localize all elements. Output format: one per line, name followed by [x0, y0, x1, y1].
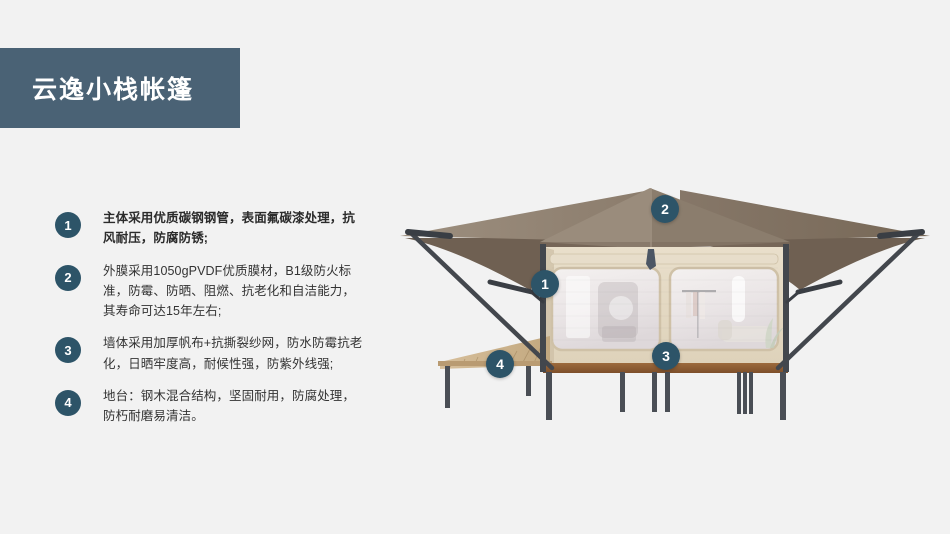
feature-list: 1 主体采用优质碳钢钢管，表面氟碳漆处理，抗风耐压，防腐防锈; 2 外膜采用10…	[55, 208, 365, 438]
feature-badge-1: 1	[55, 212, 81, 238]
window-left	[552, 268, 660, 350]
list-item: 1 主体采用优质碳钢钢管，表面氟碳漆处理，抗风耐压，防腐防锈;	[55, 208, 365, 249]
callout-badge-1[interactable]: 1	[531, 270, 559, 298]
canopy-tip-left	[408, 232, 450, 236]
corner-post-right	[783, 244, 789, 372]
feature-badge-2: 2	[55, 265, 81, 291]
feature-text-2: 外膜采用1050gPVDF优质膜材，B1级防火标准，防霉、防晒、阻燃、抗老化和自…	[103, 261, 365, 322]
list-item: 4 地台：钢木混合结构，坚固耐用，防腐处理，防朽耐磨易清洁。	[55, 386, 365, 427]
callout-badge-3[interactable]: 3	[652, 342, 680, 370]
corner-post-left	[540, 244, 546, 372]
feature-badge-3: 3	[55, 337, 81, 363]
feature-text-4: 地台：钢木混合结构，坚固耐用，防腐处理，防朽耐磨易清洁。	[103, 386, 365, 427]
window-right	[670, 268, 784, 350]
list-item: 3 墙体采用加厚帆布+抗撕裂纱网，防水防霉抗老化，日晒牢度高，耐候性强，防紫外线…	[55, 333, 365, 374]
page-title: 云逸小栈帐篷	[32, 70, 194, 106]
callout-badge-4[interactable]: 4	[486, 350, 514, 378]
window-valance	[550, 254, 778, 264]
list-item: 2 外膜采用1050gPVDF优质膜材，B1级防火标准，防霉、防晒、阻燃、抗老化…	[55, 261, 365, 322]
callout-badge-2[interactable]: 2	[651, 195, 679, 223]
canopy-tip-right	[880, 232, 922, 236]
slide-root: 云逸小栈帐篷 1 主体采用优质碳钢钢管，表面氟碳漆处理，抗风耐压，防腐防锈; 2…	[0, 0, 950, 534]
title-banner: 云逸小栈帐篷	[0, 48, 240, 128]
feature-text-1: 主体采用优质碳钢钢管，表面氟碳漆处理，抗风耐压，防腐防锈;	[103, 208, 365, 249]
feature-text-3: 墙体采用加厚帆布+抗撕裂纱网，防水防霉抗老化，日晒牢度高，耐候性强，防紫外线强;	[103, 333, 365, 374]
feature-badge-4: 4	[55, 390, 81, 416]
roof-ridge	[650, 188, 652, 249]
